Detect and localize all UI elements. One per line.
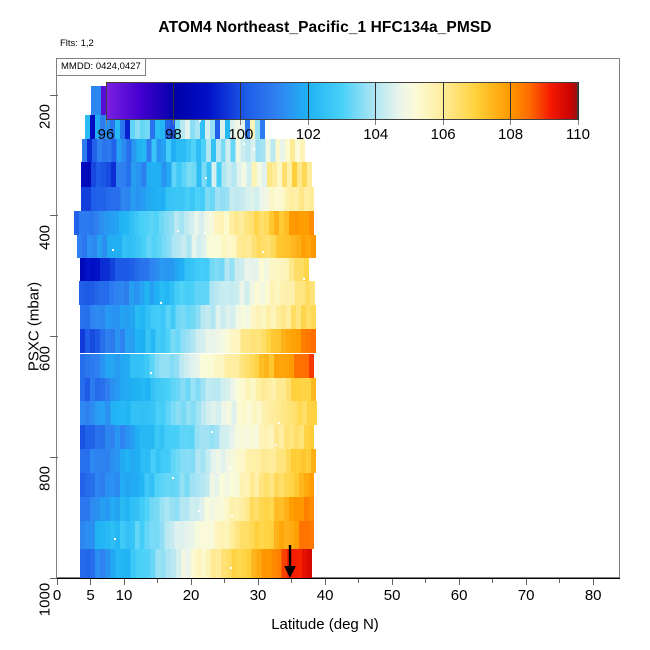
x-axis-tick-label: 10 xyxy=(116,587,133,604)
data-speck xyxy=(275,444,277,446)
data-speck xyxy=(278,422,280,424)
data-speck xyxy=(229,467,231,469)
y-axis-tick-label: 200 xyxy=(37,94,54,140)
y-axis-tick-label: 800 xyxy=(37,456,54,502)
data-speck xyxy=(199,120,201,122)
colorbar-tick-label: 96 xyxy=(98,126,115,143)
colorbar-tick-label: 102 xyxy=(296,126,321,143)
x-axis-title: Latitude (deg N) xyxy=(0,616,650,633)
colorbar-tick xyxy=(443,120,444,125)
colorbar-tick-label: 108 xyxy=(498,126,523,143)
data-speck xyxy=(262,251,264,253)
heatmap-row xyxy=(80,549,312,578)
colorbar-divider xyxy=(240,82,241,120)
data-speck xyxy=(303,278,305,280)
data-speck xyxy=(160,302,162,304)
heatmap-row xyxy=(79,281,315,305)
x-axis-tick xyxy=(325,578,326,585)
colorbar-divider xyxy=(173,82,174,120)
flights-annotation: Flts: 1,2 xyxy=(60,38,94,49)
colorbar: 9698100102104106108110 xyxy=(106,82,578,120)
colorbar-tick-label: 104 xyxy=(363,126,388,143)
heatmap-row xyxy=(80,521,314,549)
colorbar-divider xyxy=(375,82,376,120)
x-axis-tick-label: 20 xyxy=(183,587,200,604)
colorbar-tick-label: 98 xyxy=(165,126,182,143)
colorbar-tick-label: 106 xyxy=(431,126,456,143)
x-axis-tick-label: 70 xyxy=(518,587,535,604)
heatmap-data-area xyxy=(57,59,620,578)
data-speck xyxy=(253,148,255,150)
x-axis-tick xyxy=(57,578,58,585)
heatmap-row xyxy=(80,401,317,425)
data-speck xyxy=(114,538,116,540)
colorbar-gradient xyxy=(106,82,578,120)
x-axis-tick xyxy=(90,578,91,585)
data-speck xyxy=(172,477,174,479)
colorbar-divider xyxy=(443,82,444,120)
page-title: ATOM4 Northeast_Pacific_1 HFC134a_PMSD xyxy=(0,19,650,37)
data-speck xyxy=(205,177,207,179)
heatmap-row xyxy=(80,329,317,353)
data-speck xyxy=(150,372,152,374)
heatmap-row xyxy=(80,497,315,521)
colorbar-tick xyxy=(106,120,107,125)
x-axis-tick xyxy=(191,578,192,585)
heatmap-row xyxy=(81,162,312,187)
data-speck xyxy=(198,510,200,512)
x-axis-tick xyxy=(258,578,259,585)
x-axis-tick-label: 5 xyxy=(86,587,94,604)
x-axis-tick xyxy=(593,578,594,585)
data-speck xyxy=(112,249,114,251)
heatmap-row xyxy=(80,449,316,473)
colorbar-tick xyxy=(510,120,511,125)
x-axis-tick-label: 60 xyxy=(451,587,468,604)
heatmap-row xyxy=(80,258,309,281)
heatmap-row xyxy=(80,473,315,497)
x-axis-tick-label: 50 xyxy=(384,587,401,604)
heatmap-row xyxy=(77,235,316,258)
x-axis-tick xyxy=(459,578,460,585)
colorbar-tick xyxy=(375,120,376,125)
data-speck xyxy=(204,232,206,234)
heatmap-row xyxy=(74,211,313,235)
heatmap-row xyxy=(80,354,315,378)
colorbar-tick xyxy=(308,120,309,125)
x-axis-tick-label: 0 xyxy=(53,587,61,604)
colorbar-tick-label: 100 xyxy=(228,126,253,143)
heatmap-row xyxy=(81,187,314,211)
x-axis-line xyxy=(57,578,620,579)
heatmap-row xyxy=(80,378,317,401)
colorbar-tick xyxy=(578,120,579,125)
x-axis-tick-label: 30 xyxy=(250,587,267,604)
heatmap-row xyxy=(80,425,315,449)
colorbar-divider xyxy=(510,82,511,120)
data-speck xyxy=(243,143,245,145)
heatmap-row xyxy=(82,139,305,162)
x-axis-tick-label: 80 xyxy=(585,587,602,604)
colorbar-tick xyxy=(173,120,174,125)
x-axis-tick xyxy=(526,578,527,585)
down-arrow-icon xyxy=(282,545,298,579)
colorbar-divider xyxy=(308,82,309,120)
plot-page: ATOM4 Northeast_Pacific_1 HFC134a_PMSD F… xyxy=(0,0,650,650)
data-speck xyxy=(211,431,213,433)
data-speck xyxy=(230,567,232,569)
x-axis-tick-label: 40 xyxy=(317,587,334,604)
colorbar-tick xyxy=(240,120,241,125)
data-speck xyxy=(231,515,233,517)
x-axis-tick xyxy=(124,578,125,585)
mmdd-annotation-box: MMDD: 0424,0427 xyxy=(57,59,146,76)
data-speck xyxy=(177,230,179,232)
heatmap-row xyxy=(80,305,317,329)
colorbar-divider xyxy=(578,82,579,120)
x-axis-tick xyxy=(392,578,393,585)
y-axis-title: PSXC (mbar) xyxy=(26,247,43,407)
colorbar-tick-label: 110 xyxy=(566,126,590,143)
